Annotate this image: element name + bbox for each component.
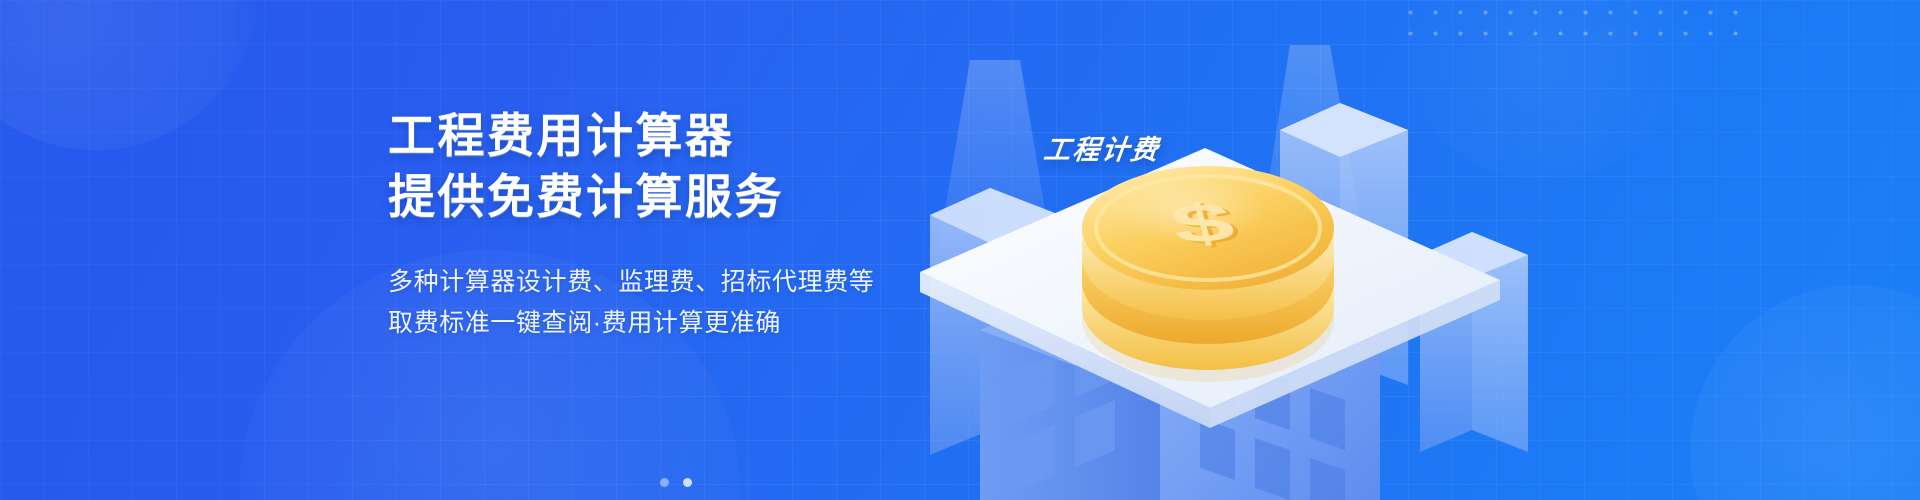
decorative-circle-top-left — [0, 0, 260, 150]
hero-illustration: $ $ 工程计费 — [860, 0, 1560, 500]
carousel-dot-2[interactable] — [683, 478, 692, 487]
carousel-indicator[interactable] — [660, 478, 692, 487]
decorative-circle-bottom-right — [1690, 285, 1920, 500]
hero-banner: 工程费用计算器 提供免费计算服务 多种计算器设计费、监理费、招标代理费等 取费标… — [0, 0, 1920, 500]
isometric-city-coin-graphic: $ $ — [860, 0, 1560, 500]
illustration-label: 工程计费 — [1042, 128, 1163, 167]
gold-coin-stack: $ $ — [1082, 166, 1334, 382]
carousel-dot-1[interactable] — [660, 478, 669, 487]
